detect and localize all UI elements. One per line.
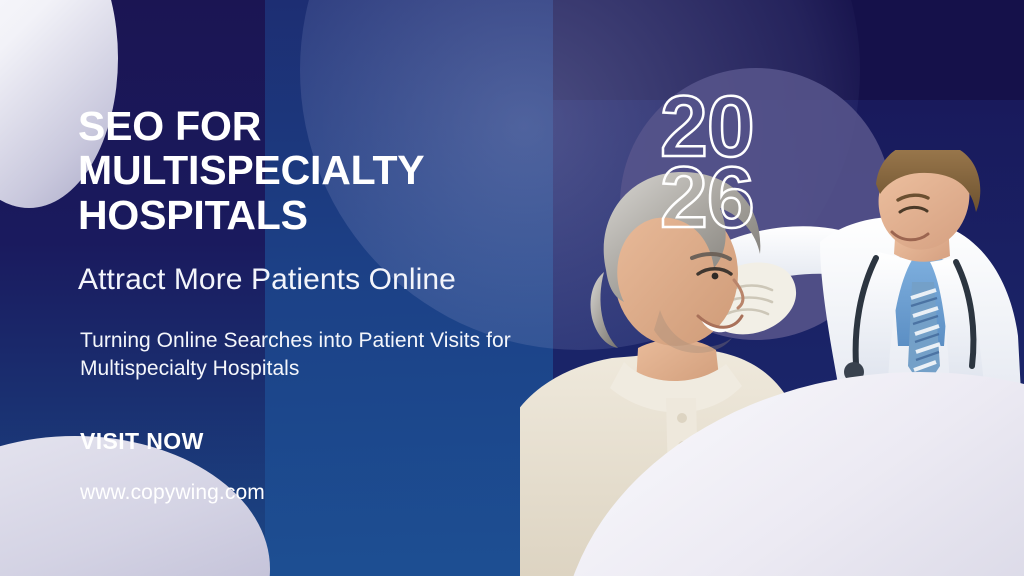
subheadline: Attract More Patients Online xyxy=(78,263,548,298)
body-copy: Turning Online Searches into Patient Vis… xyxy=(80,327,548,382)
marketing-banner: 20 26 SEO FOR MULTISPECIALTY HOSPITALS A… xyxy=(0,0,1024,576)
website-url[interactable]: www.copywing.com xyxy=(80,481,548,505)
page-title: SEO FOR MULTISPECIALTY HOSPITALS xyxy=(78,104,548,237)
visit-now-button[interactable]: VISIT NOW xyxy=(80,428,548,455)
content-block: SEO FOR MULTISPECIALTY HOSPITALS Attract… xyxy=(78,104,548,505)
